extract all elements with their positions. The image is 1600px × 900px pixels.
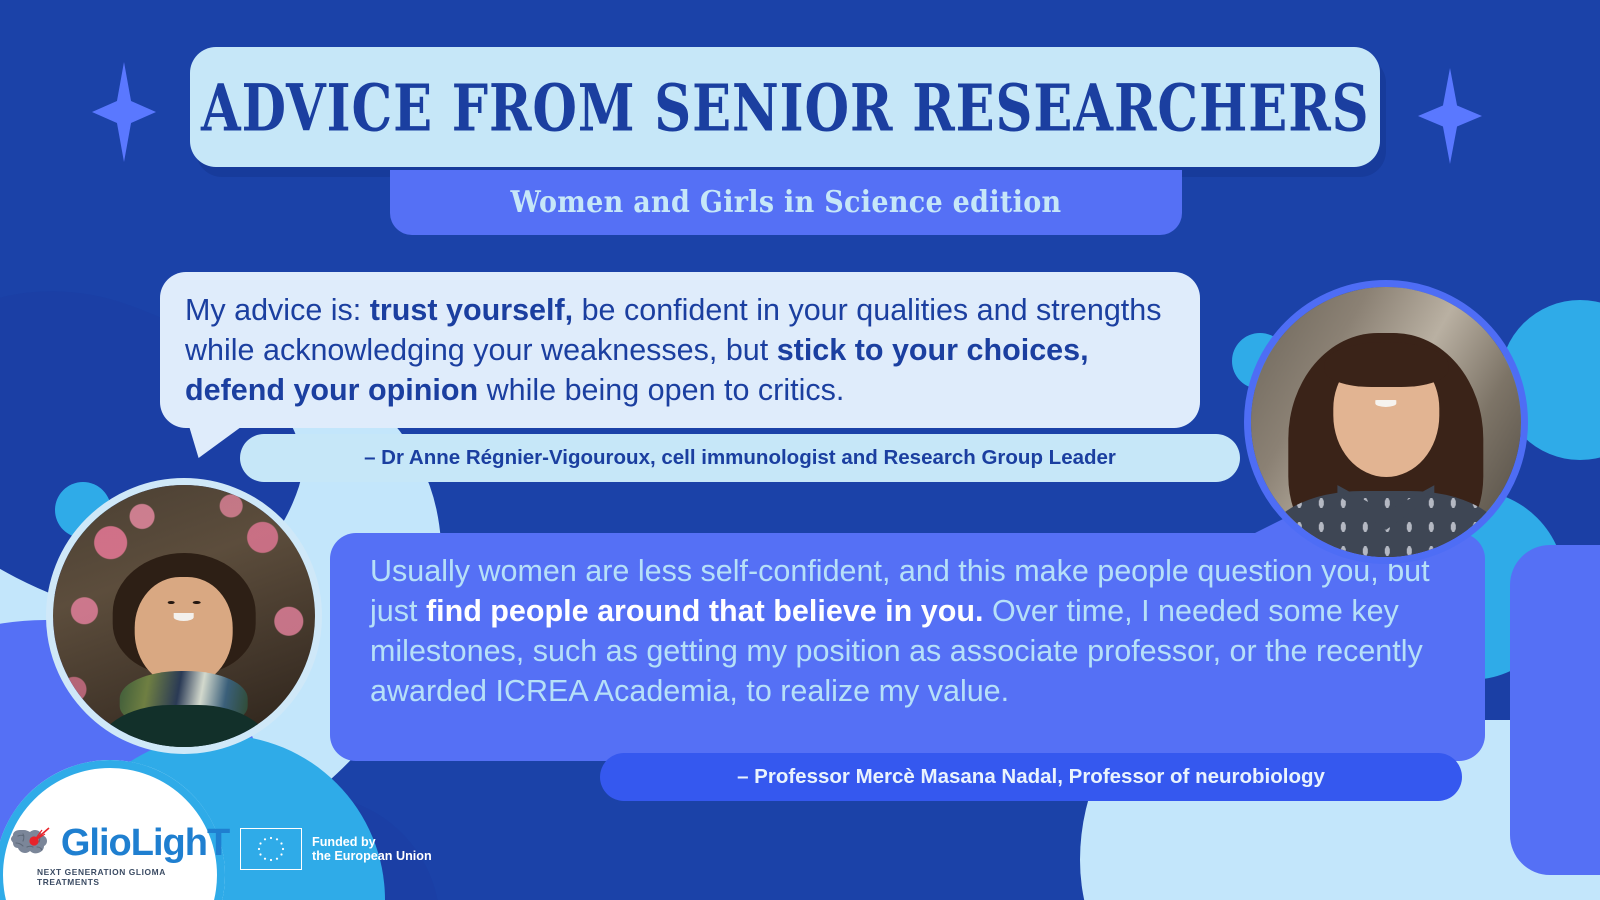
quote-2-text: Usually women are less self-confident, a… <box>370 551 1449 711</box>
quote-1-attribution: – Dr Anne Régnier-Vigouroux, cell immuno… <box>240 434 1240 482</box>
logo-lockup: GlioLighT <box>9 824 229 862</box>
quote-bubble-1: My advice is: trust yourself, be confide… <box>160 272 1200 428</box>
decorative-rounded-periwinkle-right <box>1510 545 1600 875</box>
portrait-fringe <box>1324 342 1448 387</box>
brain-icon <box>9 826 55 860</box>
avatar-anne-regnier-vigouroux <box>46 478 322 754</box>
title-banner: ADVICE FROM SENIOR RESEARCHERS <box>190 47 1380 167</box>
eu-flag-icon <box>240 828 302 870</box>
portrait-smile <box>1375 400 1396 407</box>
eu-funding-line2: the European Union <box>312 849 432 864</box>
portrait-eye-left <box>167 601 175 604</box>
quote-2-attribution: – Professor Mercè Masana Nadal, Professo… <box>600 753 1462 801</box>
logo-tagline: NEXT GENERATION GLIOMA TREATMENTS <box>37 867 217 887</box>
subtitle-banner: Women and Girls in Science edition <box>390 170 1182 235</box>
portrait-smile <box>174 613 194 621</box>
page-subtitle: Women and Girls in Science edition <box>511 185 1062 219</box>
sparkle-icon <box>92 62 156 162</box>
eu-funding-text: Funded by the European Union <box>312 835 432 864</box>
portrait-figure <box>90 553 279 754</box>
eu-stars <box>241 829 301 869</box>
quote-1-attribution-text: – Dr Anne Régnier-Vigouroux, cell immuno… <box>364 446 1116 470</box>
avatar-merce-masana-nadal <box>1244 280 1528 564</box>
portrait-eye-right <box>193 601 201 604</box>
quote-bubble-2: Usually women are less self-confident, a… <box>330 533 1485 761</box>
eu-funding-badge: Funded by the European Union <box>240 828 432 870</box>
portrait-photo-right <box>1251 287 1521 557</box>
portrait-torso <box>93 705 274 754</box>
sparkle-icon <box>1418 68 1482 164</box>
page-title: ADVICE FROM SENIOR RESEARCHERS <box>201 69 1370 146</box>
eu-funding-line1: Funded by <box>312 835 432 850</box>
quote-2-attribution-text: – Professor Mercè Masana Nadal, Professo… <box>737 765 1325 789</box>
poster-canvas: ADVICE FROM SENIOR RESEARCHERS Women and… <box>0 0 1600 900</box>
portrait-figure <box>1275 322 1496 564</box>
logo-wordmark: GlioLighT <box>61 824 229 862</box>
portrait-photo-left <box>53 485 315 747</box>
quote-1-text: My advice is: trust yourself, be confide… <box>185 290 1178 410</box>
